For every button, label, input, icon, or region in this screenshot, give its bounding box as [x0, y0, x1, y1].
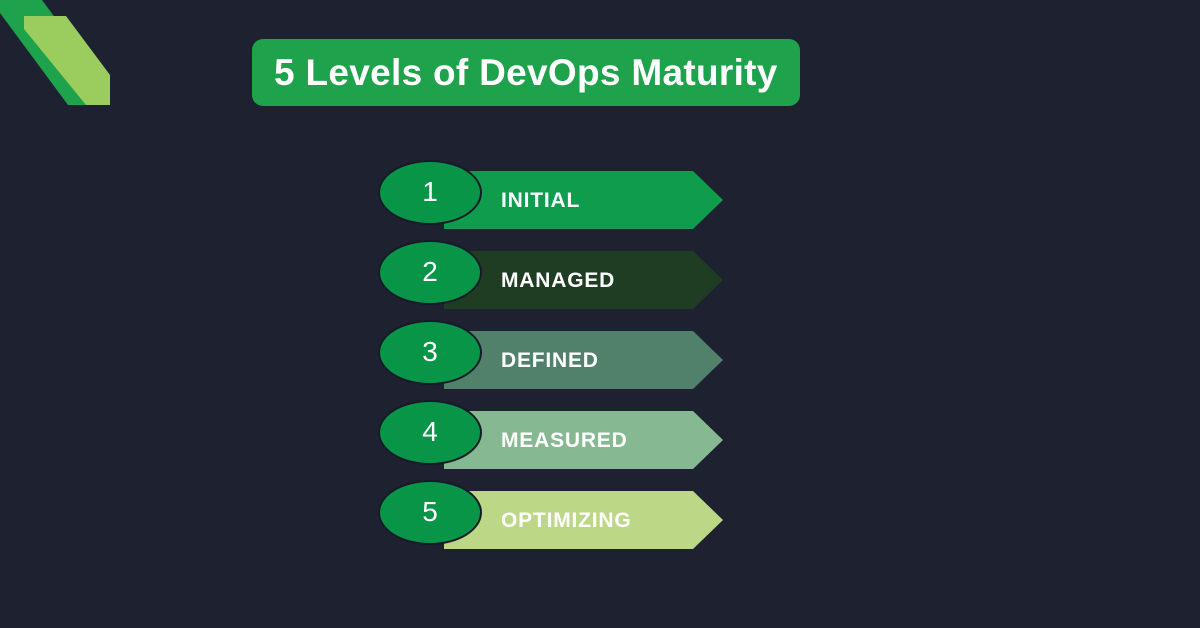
- level-arrow-bar-4: MEASURED: [444, 411, 723, 469]
- maturity-level-row-4[interactable]: MEASURED 4: [378, 400, 778, 480]
- level-number-badge-4: 4: [378, 400, 482, 465]
- page-title-banner: 5 Levels of DevOps Maturity: [252, 39, 800, 106]
- level-number-1: 1: [422, 178, 438, 208]
- level-label-1: INITIAL: [501, 190, 580, 211]
- level-arrow-bar-3: DEFINED: [444, 331, 723, 389]
- maturity-level-row-5[interactable]: OPTIMIZING 5: [378, 480, 778, 560]
- devops-maturity-infographic: 5 Levels of DevOps Maturity INITIAL 1 MA…: [0, 0, 1200, 628]
- level-number-badge-1: 1: [378, 160, 482, 225]
- maturity-level-row-2[interactable]: MANAGED 2: [378, 240, 778, 320]
- maturity-level-row-1[interactable]: INITIAL 1: [378, 160, 778, 240]
- level-number-4: 4: [422, 418, 438, 448]
- brand-logo-icon: [0, 0, 110, 105]
- page-title: 5 Levels of DevOps Maturity: [274, 54, 778, 91]
- level-arrow-bar-5: OPTIMIZING: [444, 491, 723, 549]
- level-label-4: MEASURED: [501, 430, 628, 451]
- level-number-badge-3: 3: [378, 320, 482, 385]
- level-number-3: 3: [422, 338, 438, 368]
- level-label-3: DEFINED: [501, 350, 599, 371]
- level-arrow-bar-2: MANAGED: [444, 251, 723, 309]
- level-label-2: MANAGED: [501, 270, 615, 291]
- maturity-levels-list: INITIAL 1 MANAGED 2 DEFINED 3 MEASU: [378, 160, 778, 560]
- level-number-2: 2: [422, 258, 438, 288]
- level-number-badge-5: 5: [378, 480, 482, 545]
- logo-stripe-dark-shape: [0, 0, 110, 105]
- logo-stripe-light-shape: [24, 16, 110, 105]
- level-arrow-bar-1: INITIAL: [444, 171, 723, 229]
- level-label-5: OPTIMIZING: [501, 510, 632, 531]
- level-number-badge-2: 2: [378, 240, 482, 305]
- maturity-level-row-3[interactable]: DEFINED 3: [378, 320, 778, 400]
- level-number-5: 5: [422, 498, 438, 528]
